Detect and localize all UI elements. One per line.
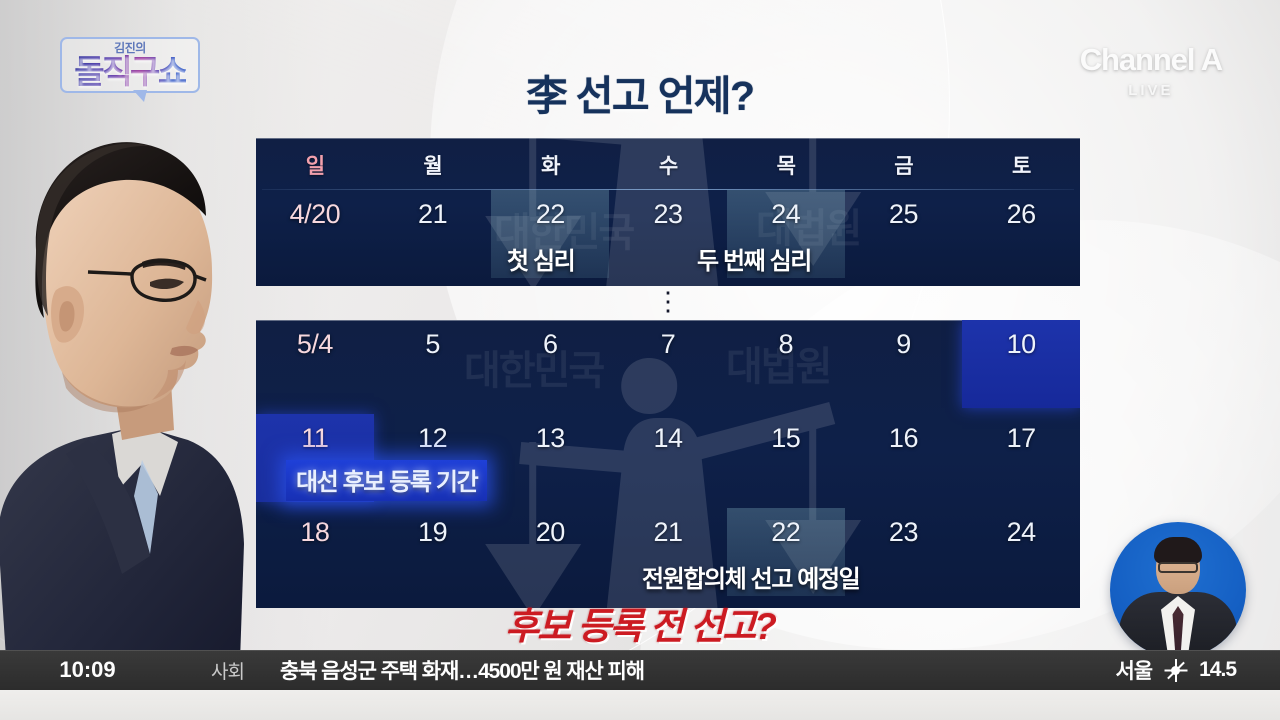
- day-number: 22: [536, 199, 565, 230]
- news-ticker-bar: 10:09 사회 충북 음성군 주택 화재…4500만 원 재산 피해 서울 1…: [0, 650, 1280, 690]
- event-label-candidate-registration: 대선 후보 등록 기간: [286, 460, 487, 501]
- event-label-second-hearing: 두 번째 심리: [697, 241, 811, 276]
- day-cell[interactable]: 25: [845, 190, 963, 278]
- day-cell[interactable]: 13: [491, 414, 609, 502]
- calendar-gap-indicator: ⋮: [256, 286, 1080, 320]
- day-cell[interactable]: 17: [962, 414, 1080, 502]
- day-number: 17: [1007, 423, 1036, 454]
- day-number: 14: [653, 423, 682, 454]
- day-cell[interactable]: 20: [491, 508, 609, 596]
- day-number: 5: [425, 329, 440, 360]
- weekday-thu: 목: [727, 146, 845, 189]
- day-number: 12: [418, 423, 447, 454]
- news-category: 사회: [175, 657, 280, 684]
- event-label-en-banc-ruling: 전원합의체 선고 예정일: [642, 559, 859, 594]
- weather-temperature: 14.5: [1199, 658, 1236, 682]
- day-number: 24: [1007, 517, 1036, 548]
- day-cell[interactable]: 5/4: [256, 320, 374, 408]
- day-number: 26: [1007, 199, 1036, 230]
- day-number: 24: [771, 199, 800, 230]
- week-row-may-1: 5/4 5 6 7 8 9 10: [256, 320, 1080, 414]
- day-cell[interactable]: 16: [845, 414, 963, 502]
- day-cell[interactable]: 24: [962, 508, 1080, 596]
- broadcast-graphic-stage: 김진의 돌직구쇼 Channel A LIVE 李 선고 언제?: [0, 0, 1280, 720]
- day-number: 5/4: [297, 329, 333, 360]
- anchor-pip-avatar[interactable]: [1110, 522, 1246, 658]
- event-label-first-hearing: 첫 심리: [507, 241, 574, 276]
- weekday-wed: 수: [609, 146, 727, 189]
- day-number: 22: [771, 517, 800, 548]
- weekday-fri: 금: [845, 146, 963, 189]
- day-number: 20: [536, 517, 565, 548]
- day-number: 21: [653, 517, 682, 548]
- day-number: 16: [889, 423, 918, 454]
- day-number: 13: [536, 423, 565, 454]
- day-cell[interactable]: 21: [374, 190, 492, 278]
- day-cell[interactable]: 4/20: [256, 190, 374, 278]
- weather-city: 서울: [1115, 655, 1152, 685]
- weekday-sat: 토: [962, 146, 1080, 189]
- day-number: 10: [1007, 329, 1036, 360]
- day-number: 8: [778, 329, 793, 360]
- day-cell[interactable]: 5: [374, 320, 492, 408]
- calendar-block-may: 대한민국 대법원 5/4 5 6 7 8: [256, 320, 1080, 608]
- avatar-hair: [1154, 537, 1202, 564]
- day-number: 19: [418, 517, 447, 548]
- week-row-april: 4/20 21 22 23 24 25: [256, 190, 1080, 282]
- day-cell[interactable]: 23: [845, 508, 963, 596]
- weather-widget: 서울 14.5: [1115, 655, 1236, 685]
- day-cell[interactable]: 8: [727, 320, 845, 408]
- day-number: 15: [771, 423, 800, 454]
- day-cell-election-day[interactable]: 10: [962, 320, 1080, 408]
- day-cell[interactable]: 15: [727, 414, 845, 502]
- day-number: 18: [300, 517, 329, 548]
- day-cell[interactable]: 7: [609, 320, 727, 408]
- day-cell[interactable]: 18: [256, 508, 374, 596]
- weekday-header-row: 일 월 화 수 목 금 토: [256, 138, 1080, 189]
- weekday-sun: 일: [256, 146, 374, 189]
- day-cell[interactable]: 14: [609, 414, 727, 502]
- calendar: 대한민국 대법원 일 월 화 수 목 금 토 4/20 21: [256, 138, 1080, 608]
- weekday-mon: 월: [374, 146, 492, 189]
- day-number: 23: [653, 199, 682, 230]
- day-number: 25: [889, 199, 918, 230]
- news-headline: 충북 음성군 주택 화재…4500만 원 재산 피해: [280, 655, 644, 685]
- weekday-tue: 화: [491, 146, 609, 189]
- avatar-glasses-icon: [1158, 562, 1198, 573]
- day-cell[interactable]: 6: [491, 320, 609, 408]
- sun-icon: [1166, 661, 1185, 680]
- day-number: 11: [301, 423, 328, 454]
- clock-time: 10:09: [0, 657, 175, 683]
- day-number: 9: [896, 329, 911, 360]
- day-cell[interactable]: 26: [962, 190, 1080, 278]
- day-number: 6: [543, 329, 558, 360]
- day-cell[interactable]: 19: [374, 508, 492, 596]
- day-cell[interactable]: 9: [845, 320, 963, 408]
- day-number: 21: [418, 199, 447, 230]
- day-number: 23: [889, 517, 918, 548]
- day-number: 4/20: [290, 199, 341, 230]
- page-title: 李 선고 언제?: [0, 62, 1280, 122]
- calendar-block-april: 대한민국 대법원 일 월 화 수 목 금 토 4/20 21: [256, 138, 1080, 286]
- bottom-filler: [0, 690, 1280, 720]
- kicker-headline: 후보 등록 전 선고?: [0, 596, 1280, 650]
- day-number: 7: [661, 329, 676, 360]
